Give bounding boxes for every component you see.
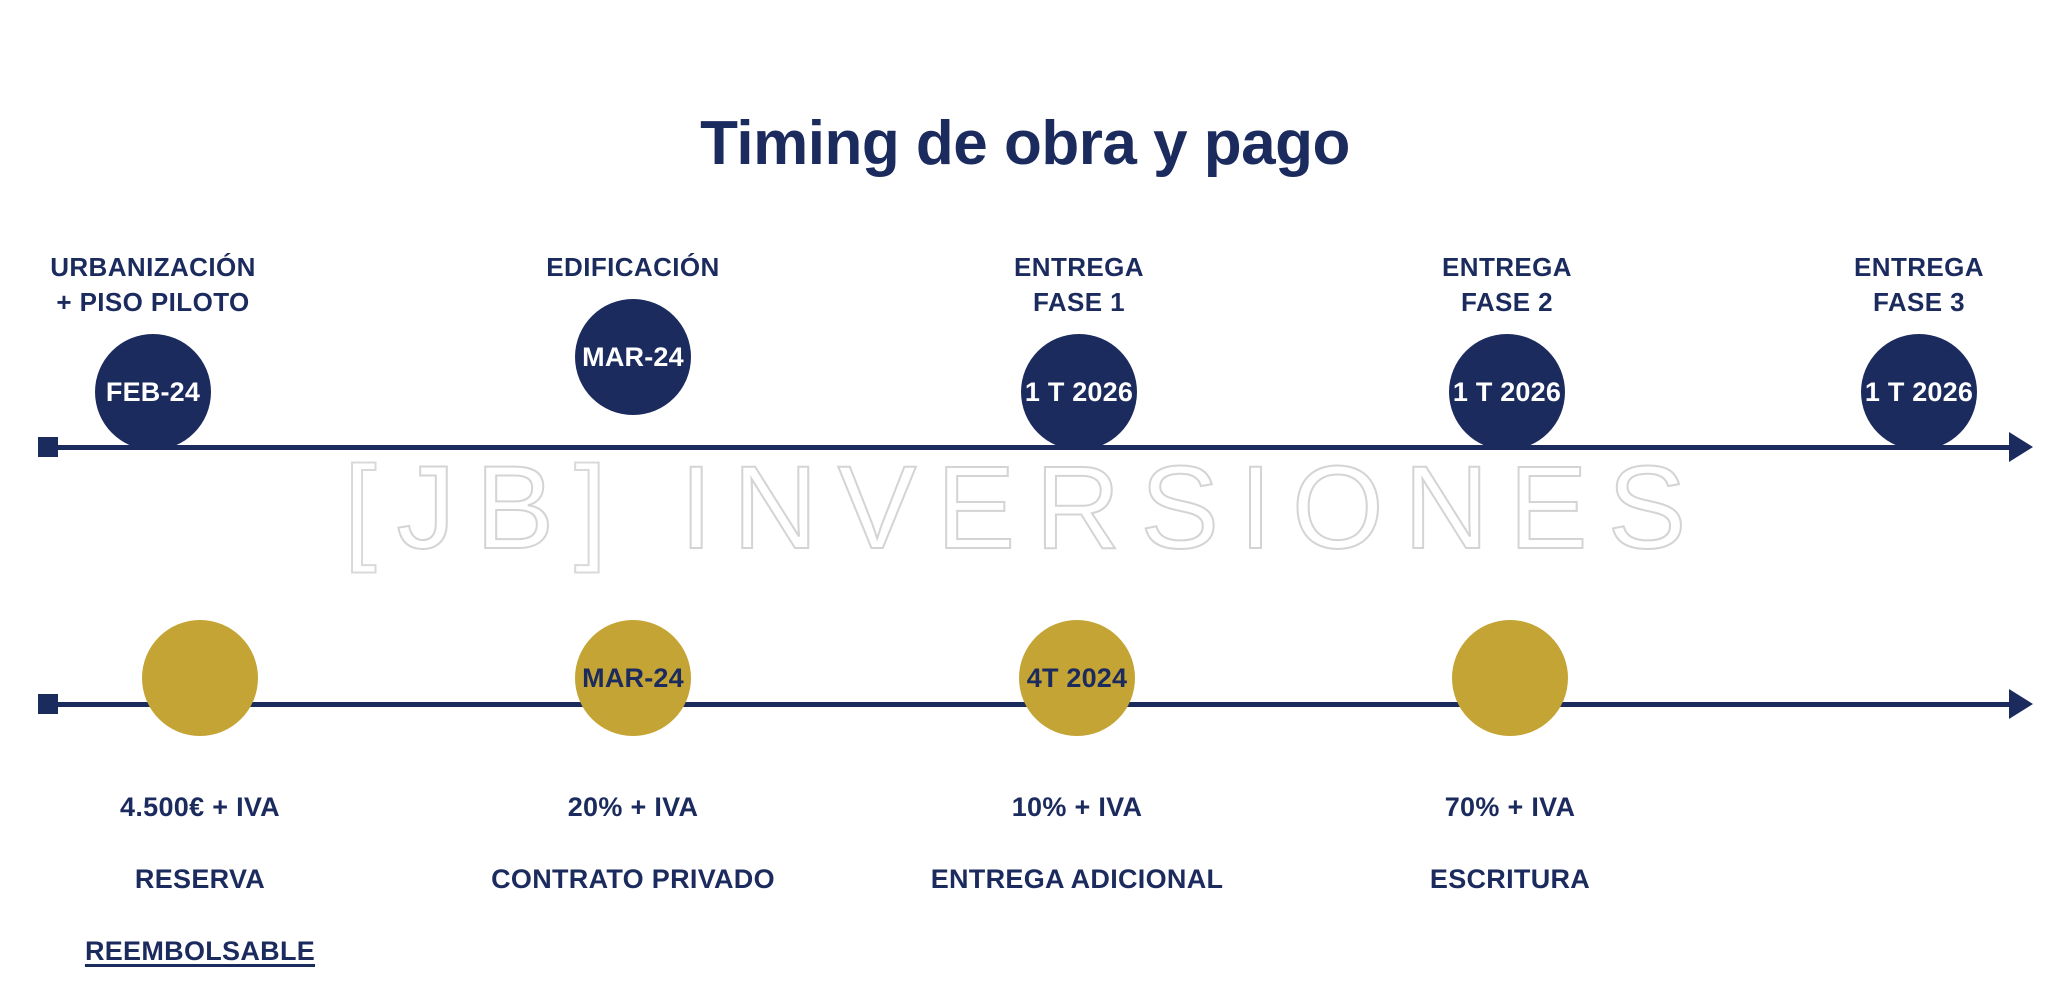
works-node-caption: ENTREGA FASE 1 (929, 250, 1229, 320)
payment-amount: 4.500€ + IVA (40, 790, 360, 826)
payment-node-caption: 10% + IVA ENTREGA ADICIONAL (917, 754, 1237, 934)
payment-axis-arrow-icon (2009, 689, 2033, 719)
payment-concept: RESERVA (40, 862, 360, 898)
works-node-caption: EDIFICACIÓN (483, 250, 783, 285)
watermark-brand: INVERSIONES (680, 442, 1707, 574)
works-node-date-badge[interactable]: 1 T 2026 (1861, 334, 1977, 450)
payment-amount: 70% + IVA (1350, 790, 1670, 826)
payment-timeline-row: 4.500€ + IVA RESERVA REEMBOLSABLE MAR-24… (0, 620, 2050, 850)
payment-node-escritura[interactable]: 70% + IVA ESCRITURA (1350, 620, 1670, 934)
payment-node-date-badge[interactable]: 4T 2024 (1019, 620, 1135, 736)
payment-concept: ESCRITURA (1350, 862, 1670, 898)
works-timeline-row: URBANIZACIÓN + PISO PILOTO FEB-24 EDIFIC… (0, 250, 2050, 450)
payment-concept: CONTRATO PRIVADO (473, 862, 793, 898)
payment-node-date-badge[interactable]: MAR-24 (575, 620, 691, 736)
works-node-entrega-fase-1[interactable]: ENTREGA FASE 1 1 T 2026 (929, 250, 1229, 450)
works-node-date-badge[interactable]: FEB-24 (95, 334, 211, 450)
works-node-entrega-fase-3[interactable]: ENTREGA FASE 3 1 T 2026 (1769, 250, 2050, 450)
payment-amount: 10% + IVA (917, 790, 1237, 826)
works-node-caption: ENTREGA FASE 3 (1769, 250, 2050, 320)
payment-node-date-badge[interactable] (1452, 620, 1568, 736)
brand-watermark: [JB] INVERSIONES (0, 440, 2050, 576)
watermark-brand-short: JB (396, 442, 574, 574)
page-title: Timing de obra y pago (0, 108, 2050, 179)
watermark-bracket-left: [ (344, 442, 397, 574)
watermark-bracket-right: ] (574, 442, 627, 574)
payment-node-entrega-adicional[interactable]: 4T 2024 10% + IVA ENTREGA ADICIONAL (917, 620, 1237, 934)
works-node-date-badge[interactable]: 1 T 2026 (1449, 334, 1565, 450)
works-node-urbanizacion[interactable]: URBANIZACIÓN + PISO PILOTO FEB-24 (3, 250, 303, 450)
works-node-edificacion[interactable]: EDIFICACIÓN MAR-24 (483, 250, 783, 415)
payment-amount: 20% + IVA (473, 790, 793, 826)
payment-node-caption: 70% + IVA ESCRITURA (1350, 754, 1670, 934)
works-node-date-badge[interactable]: MAR-24 (575, 299, 691, 415)
payment-extra-note: REEMBOLSABLE (40, 934, 360, 970)
works-node-entrega-fase-2[interactable]: ENTREGA FASE 2 1 T 2026 (1357, 250, 1657, 450)
payment-node-caption: 4.500€ + IVA RESERVA REEMBOLSABLE (40, 754, 360, 1005)
works-node-caption: URBANIZACIÓN + PISO PILOTO (3, 250, 303, 320)
works-node-date-badge[interactable]: 1 T 2026 (1021, 334, 1137, 450)
payment-concept: ENTREGA ADICIONAL (917, 862, 1237, 898)
works-node-caption: ENTREGA FASE 2 (1357, 250, 1657, 320)
payment-node-reserva[interactable]: 4.500€ + IVA RESERVA REEMBOLSABLE (40, 620, 360, 1005)
payment-node-caption: 20% + IVA CONTRATO PRIVADO (473, 754, 793, 934)
payment-node-contrato-privado[interactable]: MAR-24 20% + IVA CONTRATO PRIVADO (473, 620, 793, 934)
timeline-infographic: Timing de obra y pago [JB] INVERSIONES U… (0, 0, 2050, 999)
payment-node-date-badge[interactable] (142, 620, 258, 736)
